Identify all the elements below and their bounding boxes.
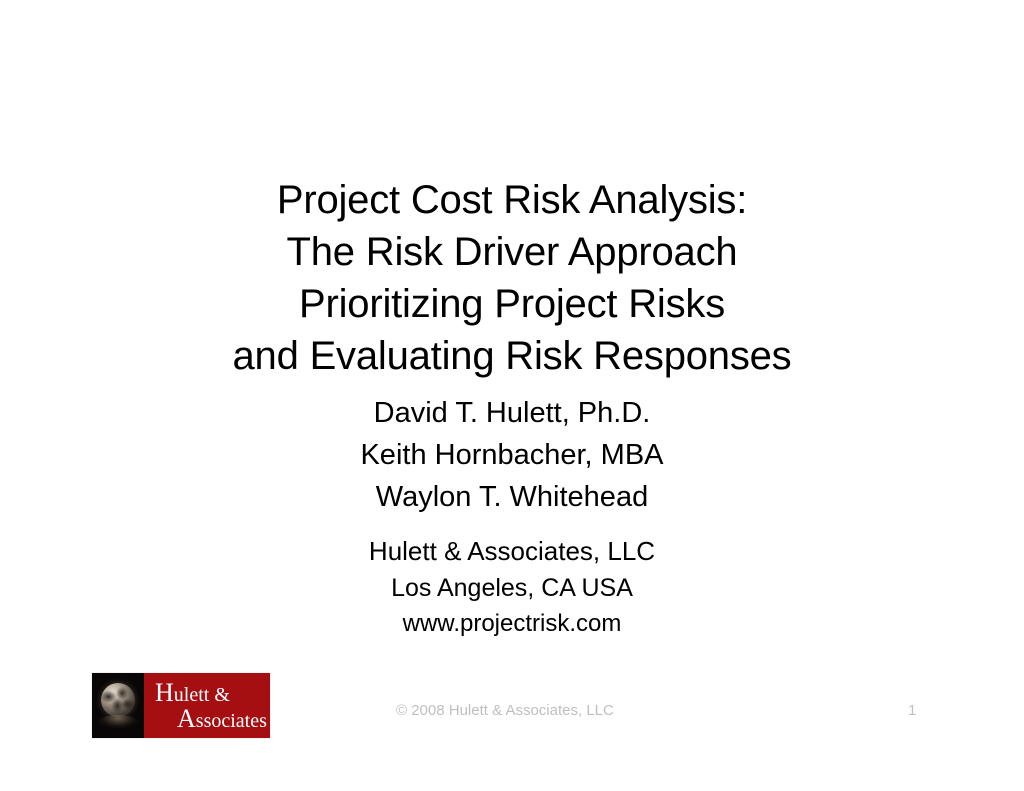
- affiliation-website: www.projectrisk.com: [0, 606, 1024, 641]
- globe-base-reflection: [98, 715, 138, 728]
- globe-sphere: [101, 683, 135, 717]
- globe-icon: [92, 673, 144, 738]
- logo-wordmark: Hulett & Associates: [144, 673, 270, 738]
- logo-word-hulett-rest: ulett &: [174, 684, 230, 706]
- title-line-2: The Risk Driver Approach: [0, 226, 1024, 278]
- title-line-3: Prioritizing Project Risks: [0, 278, 1024, 330]
- logo-dropcap-a: A: [177, 704, 196, 733]
- slide-page-number: 1: [908, 702, 916, 720]
- logo-word-hulett: Hulett &: [155, 683, 230, 705]
- slide-title: Project Cost Risk Analysis: The Risk Dri…: [0, 174, 1024, 382]
- affiliation-block: Hulett & Associates, LLC Los Angeles, CA…: [0, 532, 1024, 641]
- author-name-3: Waylon T. Whitehead: [0, 476, 1024, 518]
- affiliation-location: Los Angeles, CA USA: [0, 570, 1024, 606]
- title-line-4: and Evaluating Risk Responses: [0, 330, 1024, 382]
- author-name-1: David T. Hulett, Ph.D.: [0, 392, 1024, 434]
- author-list: David T. Hulett, Ph.D. Keith Hornbacher,…: [0, 392, 1024, 518]
- presentation-slide: Project Cost Risk Analysis: The Risk Dri…: [0, 0, 1024, 791]
- hulett-associates-logo: Hulett & Associates: [92, 673, 270, 738]
- logo-word-associates: Associates: [177, 709, 267, 731]
- author-name-2: Keith Hornbacher, MBA: [0, 434, 1024, 476]
- logo-word-associates-rest: ssociates: [196, 710, 267, 732]
- affiliation-company: Hulett & Associates, LLC: [0, 532, 1024, 570]
- logo-dropcap-h: H: [155, 678, 174, 707]
- footer-copyright: © 2008 Hulett & Associates, LLC: [396, 702, 614, 720]
- title-line-1: Project Cost Risk Analysis:: [0, 174, 1024, 226]
